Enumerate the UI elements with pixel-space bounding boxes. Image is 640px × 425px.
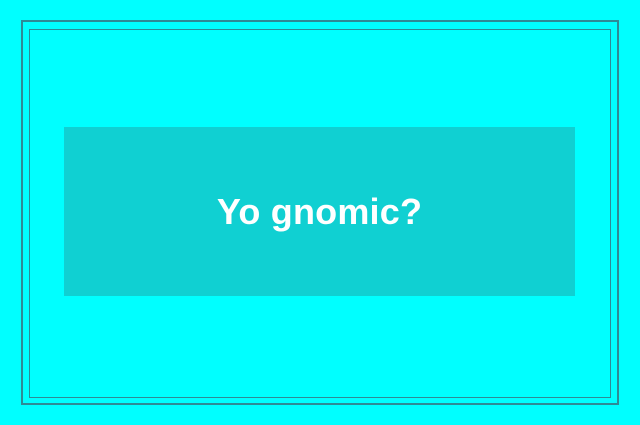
slide-canvas: Yo gnomic? (0, 0, 640, 425)
headline-text: Yo gnomic? (217, 194, 422, 230)
content-panel: Yo gnomic? (64, 127, 575, 296)
